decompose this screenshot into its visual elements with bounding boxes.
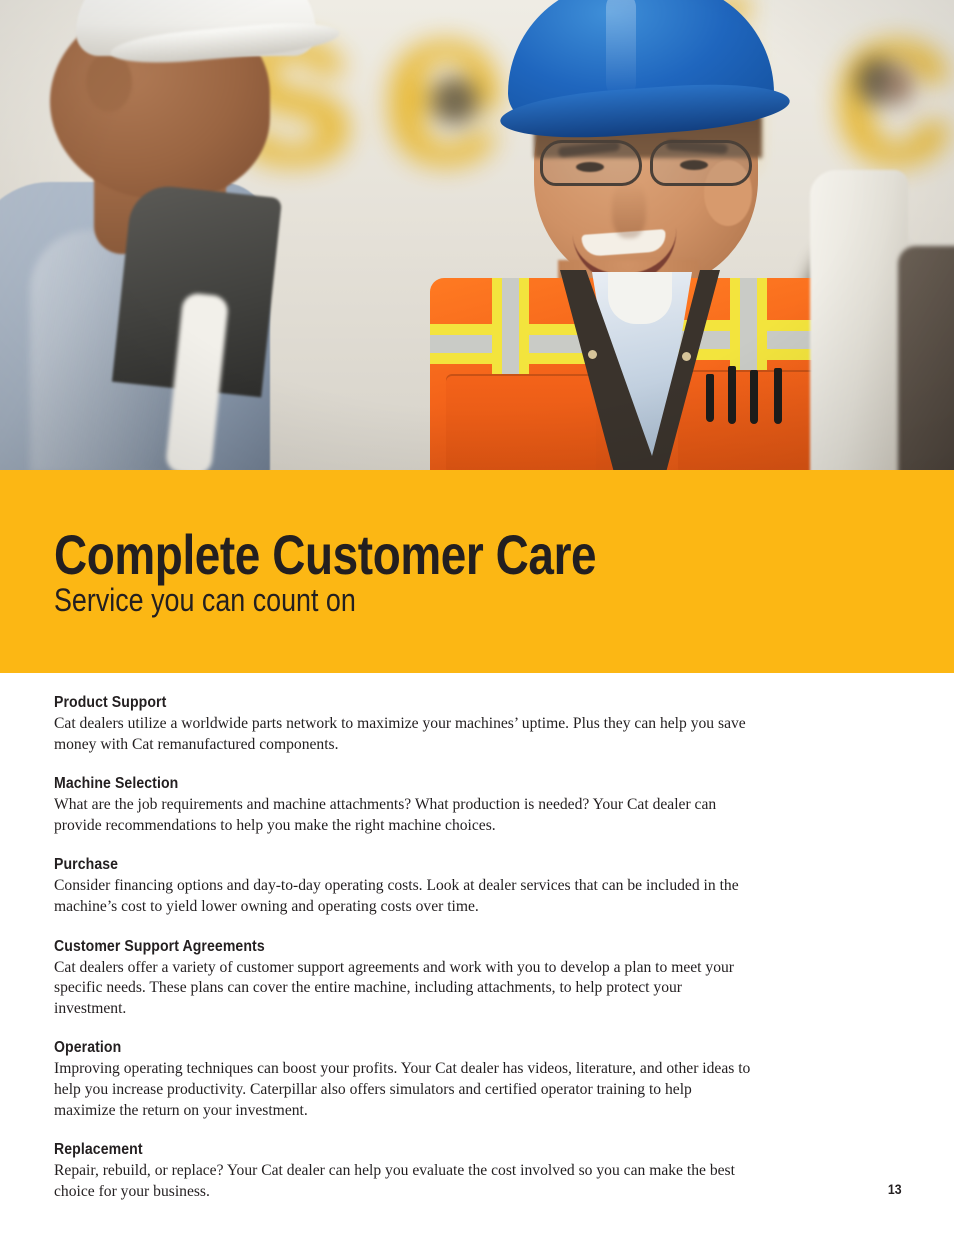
hero-photo: s e i c	[0, 0, 954, 470]
section-heading: Product Support	[54, 693, 670, 712]
pen-icon	[750, 370, 758, 424]
safety-glasses-icon	[530, 140, 770, 186]
section-product-support: Product Support Cat dealers utilize a wo…	[54, 693, 754, 755]
person-left	[0, 0, 320, 470]
center-person-nose	[612, 182, 646, 238]
section-heading: Customer Support Agreements	[54, 937, 670, 956]
pen-icon	[774, 368, 782, 424]
person-center	[430, 0, 850, 470]
section-customer-support-agreements: Customer Support Agreements Cat dealers …	[54, 937, 754, 1020]
hardhat-ridge	[606, 0, 636, 98]
pen-icon	[706, 374, 714, 422]
right-person-jacket-sleeve	[810, 170, 908, 470]
vest-yellow-stripe-vertical	[757, 278, 767, 374]
vest-silver-stripe-vertical	[740, 278, 757, 374]
vest-button	[682, 352, 691, 361]
page-title: Complete Customer Care	[54, 526, 596, 584]
content-column: Product Support Cat dealers utilize a wo…	[54, 693, 754, 1202]
vest-yellow-stripe-vertical	[730, 278, 740, 374]
section-purchase: Purchase Consider financing options and …	[54, 855, 754, 917]
section-body: Consider financing options and day-to-da…	[54, 876, 754, 917]
section-body: Repair, rebuild, or replace? Your Cat de…	[54, 1161, 754, 1202]
vest-yellow-stripe-vertical	[492, 278, 502, 378]
section-body: What are the job requirements and machin…	[54, 795, 754, 836]
background-blur-blob	[884, 66, 914, 106]
pen-icon	[728, 366, 736, 424]
section-heading: Replacement	[54, 1140, 670, 1159]
title-band: Complete Customer Care Service you can c…	[0, 470, 954, 673]
vest-silver-stripe-vertical	[502, 278, 519, 378]
section-replacement: Replacement Repair, rebuild, or replace?…	[54, 1140, 754, 1202]
page-subtitle: Service you can count on	[54, 583, 356, 617]
left-person-ear	[86, 52, 132, 112]
section-heading: Purchase	[54, 855, 670, 874]
section-machine-selection: Machine Selection What are the job requi…	[54, 774, 754, 836]
right-person-torso	[898, 246, 954, 470]
person-right	[810, 170, 954, 470]
section-heading: Machine Selection	[54, 774, 670, 793]
page-number: 13	[888, 1182, 902, 1196]
center-person-undershirt	[608, 272, 672, 324]
section-body: Cat dealers utilize a worldwide parts ne…	[54, 714, 754, 755]
section-operation: Operation Improving operating techniques…	[54, 1038, 754, 1121]
section-body: Improving operating techniques can boost…	[54, 1059, 754, 1121]
vest-button	[588, 350, 597, 359]
section-heading: Operation	[54, 1038, 670, 1057]
section-body: Cat dealers offer a variety of customer …	[54, 958, 754, 1020]
vest-yellow-stripe-vertical	[519, 278, 529, 378]
vest-pocket-left	[446, 374, 596, 470]
